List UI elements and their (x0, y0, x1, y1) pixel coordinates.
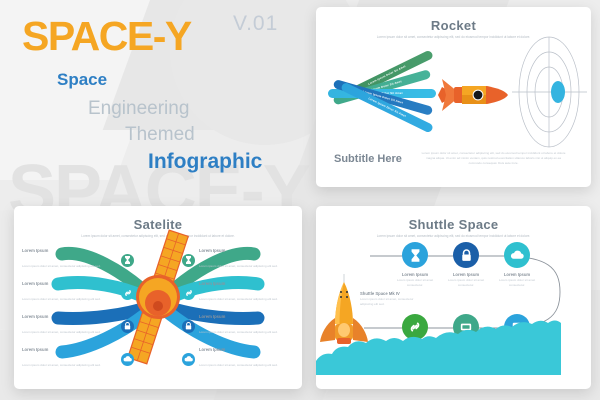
cloud-icon[interactable] (121, 353, 134, 366)
rocket-subtitle-heading: Subtitle Here (334, 153, 402, 165)
item-heading: Lorem Ipsum (199, 248, 294, 253)
cloud-icon[interactable] (182, 353, 195, 366)
lock-icon[interactable] (121, 320, 134, 333)
satelite-right-label-1: Lorem Ipsum Lorem ipsum dolor sit amet, … (199, 248, 294, 272)
hourglass-icon[interactable] (402, 242, 428, 268)
lock-icon[interactable] (453, 242, 479, 268)
hero-line-themed: Themed (125, 124, 195, 146)
link-icon[interactable] (182, 287, 195, 300)
item-text: Lorem ipsum dolor sit amet, consectetur … (22, 264, 101, 268)
hero-block: SPACE-Y V.01 Space Engineering Themed In… (0, 0, 305, 195)
brand-title: SPACE-Y (22, 16, 191, 57)
satelite-left-label-1: Lorem Ipsum Lorem ipsum dolor sit amet, … (22, 248, 117, 272)
satelite-right-item-2[interactable]: Lorem Ipsum Lorem ipsum dolor sit amet, … (182, 281, 294, 305)
cloud-band (316, 337, 591, 389)
shuttle-card[interactable]: Shuttle Space Lorem ipsum dolor sit amet… (316, 206, 591, 389)
satelite-right-item-3[interactable]: Lorem Ipsum Lorem ipsum dolor sit amet, … (182, 314, 294, 338)
target-illustration (512, 35, 587, 150)
satelite-left-label-2: Lorem Ipsum Lorem ipsum dolor sit amet, … (22, 281, 117, 305)
hero-line-space: Space (57, 70, 107, 90)
link-icon[interactable] (121, 287, 134, 300)
rocket-body-text: Lorem ipsum dolor sit amet, consectetur … (421, 151, 566, 166)
satelite-left-item-4[interactable]: Lorem Ipsum Lorem ipsum dolor sit amet, … (22, 347, 134, 371)
item-text: Lorem ipsum dolor sit amet, consectetur … (199, 363, 278, 367)
item-heading: Lorem Ipsum (22, 248, 117, 253)
item-heading: Lorem Ipsum (199, 314, 294, 319)
cloud-icon[interactable] (504, 242, 530, 268)
satelite-left-item-3[interactable]: Lorem Ipsum Lorem ipsum dolor sit amet, … (22, 314, 134, 338)
hourglass-icon[interactable] (121, 254, 134, 267)
satelite-left-label-3: Lorem Ipsum Lorem ipsum dolor sit amet, … (22, 314, 117, 338)
poster-stage: SPACE-Y SPACE-Y V.01 Space Engineering T… (0, 0, 600, 400)
satelite-left-label-4: Lorem Ipsum Lorem ipsum dolor sit amet, … (22, 347, 117, 371)
hourglass-icon[interactable] (182, 254, 195, 267)
shuttle-top-node-3[interactable]: Lorem Ipsum Lorem ipsum dolor sit amet c… (496, 242, 538, 287)
version-label: V.01 (233, 12, 278, 36)
shuttle-top-node-1[interactable]: Lorem Ipsum Lorem ipsum dolor sit amet c… (394, 242, 436, 287)
shuttle-top-node-2[interactable]: Lorem Ipsum Lorem ipsum dolor sit amet c… (445, 242, 487, 287)
node-text: Lorem ipsum dolor sit amet consectetur. (394, 278, 436, 287)
rocket-card[interactable]: Rocket Lorem ipsum dolor sit amet, conse… (316, 7, 591, 187)
item-heading: Lorem Ipsum (199, 347, 294, 352)
satelite-card[interactable]: Satelite Lorem ipsum dolor sit amet, con… (14, 206, 302, 389)
satelite-right-label-4: Lorem Ipsum Lorem ipsum dolor sit amet, … (199, 347, 294, 371)
item-text: Lorem ipsum dolor sit amet, consectetur … (199, 330, 278, 334)
item-text: Lorem ipsum dolor sit amet, consectetur … (22, 363, 101, 367)
item-heading: Lorem Ipsum (22, 347, 117, 352)
satelite-right-label-3: Lorem Ipsum Lorem ipsum dolor sit amet, … (199, 314, 294, 338)
node-heading: Lorem Ipsum (496, 272, 538, 277)
shuttle-card-subtitle: Lorem ipsum dolor sit amet, consectetur … (371, 234, 536, 239)
rocket-card-title: Rocket (316, 18, 591, 33)
item-text: Lorem ipsum dolor sit amet, consectetur … (199, 297, 278, 301)
node-text: Lorem ipsum dolor sit amet consectetur. (445, 278, 487, 287)
item-heading: Lorem Ipsum (22, 314, 117, 319)
node-heading: Lorem Ipsum (445, 272, 487, 277)
satelite-right-label-2: Lorem Ipsum Lorem ipsum dolor sit amet, … (199, 281, 294, 305)
item-heading: Lorem Ipsum (22, 281, 117, 286)
lock-icon[interactable] (182, 320, 195, 333)
rocket-illustration (434, 75, 512, 115)
item-text: Lorem ipsum dolor sit amet, consectetur … (22, 297, 101, 301)
satelite-right-item-1[interactable]: Lorem Ipsum Lorem ipsum dolor sit amet, … (182, 248, 294, 272)
hero-line-infographic: Infographic (148, 150, 262, 174)
satelite-left-item-2[interactable]: Lorem Ipsum Lorem ipsum dolor sit amet, … (22, 281, 134, 305)
satelite-right-item-4[interactable]: Lorem Ipsum Lorem ipsum dolor sit amet, … (182, 347, 294, 371)
item-heading: Lorem Ipsum (199, 281, 294, 286)
shuttle-card-title: Shuttle Space (316, 217, 591, 232)
satelite-left-item-1[interactable]: Lorem Ipsum Lorem ipsum dolor sit amet, … (22, 248, 134, 272)
hero-line-engineering: Engineering (88, 98, 189, 120)
item-text: Lorem ipsum dolor sit amet, consectetur … (22, 330, 101, 334)
node-text: Lorem ipsum dolor sit amet consectetur. (496, 278, 538, 287)
item-text: Lorem ipsum dolor sit amet, consectetur … (199, 264, 278, 268)
node-heading: Lorem Ipsum (394, 272, 436, 277)
